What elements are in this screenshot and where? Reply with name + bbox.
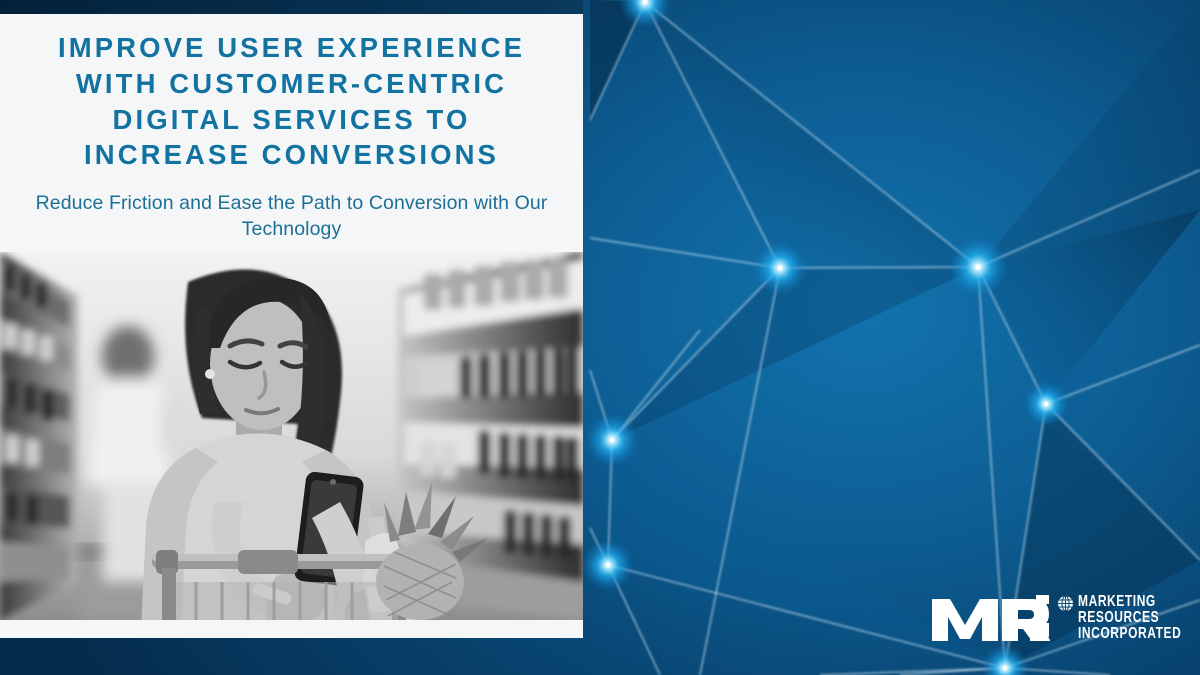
mri-logo: MARKETING RESOURCES INCORPORATED	[932, 593, 1186, 645]
logo-text-group: MARKETING RESOURCES INCORPORATED	[1057, 595, 1186, 643]
content-card: Improve User Experience with Customer-Ce…	[0, 14, 583, 638]
shopper-illustration	[0, 252, 583, 620]
hero-photo	[0, 252, 583, 620]
photo-grayscale-layer	[0, 252, 583, 620]
logo-line-3: INCORPORATED	[1078, 625, 1181, 641]
top-accent-band	[0, 0, 583, 14]
logo-tagline: MARKETING RESOURCES INCORPORATED	[1078, 595, 1186, 643]
logo-line-2: RESOURCES	[1078, 609, 1181, 625]
card-text-block: Improve User Experience with Customer-Ce…	[0, 14, 583, 243]
page-subtitle: Reduce Friction and Ease the Path to Con…	[22, 190, 561, 243]
logo-line-1: MARKETING	[1078, 593, 1181, 609]
globe-icon	[1057, 595, 1074, 612]
page-title: Improve User Experience with Customer-Ce…	[22, 30, 561, 173]
mri-wordmark-icon	[932, 593, 1050, 645]
network-facets	[590, 0, 1200, 675]
